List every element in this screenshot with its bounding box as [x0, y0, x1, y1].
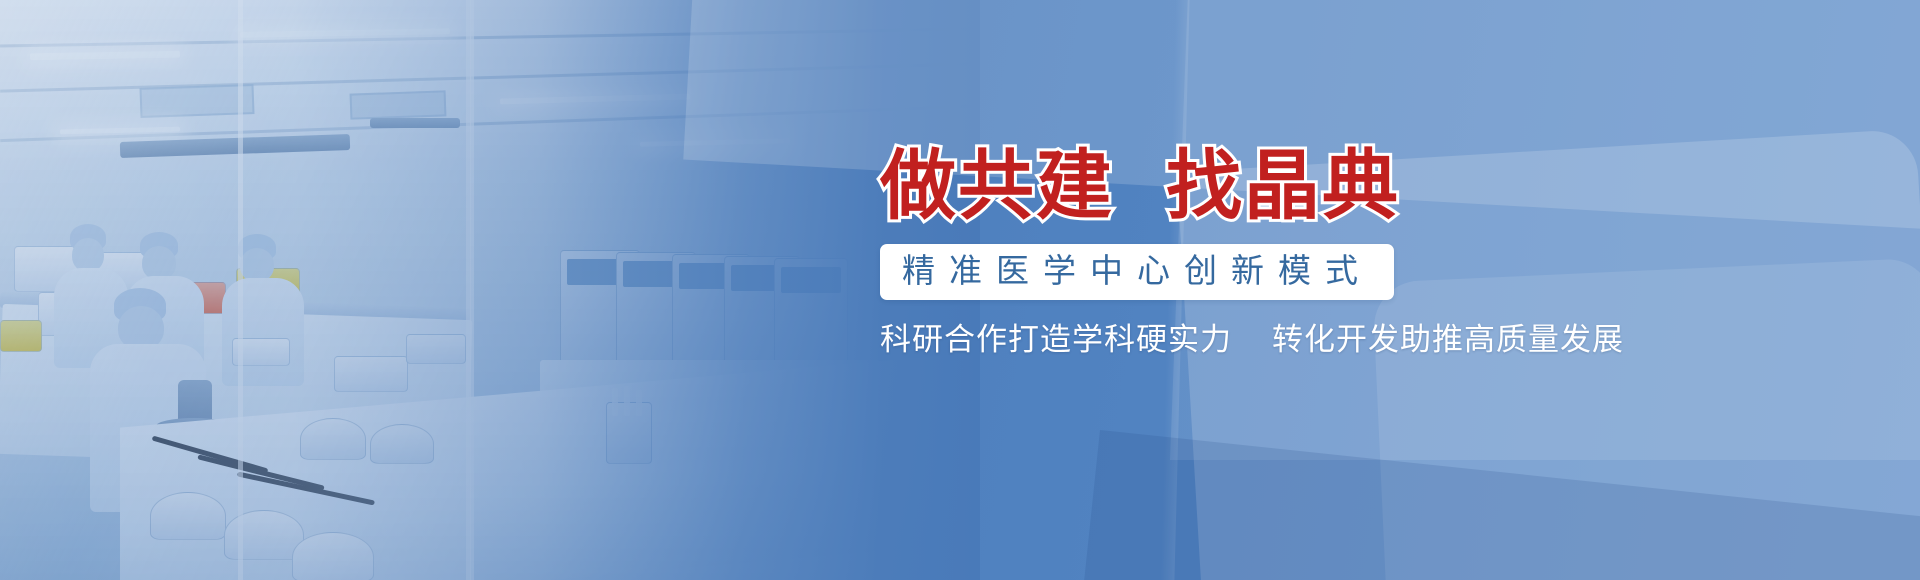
- promo-banner: 做共建找晶典 精准医学中心创新模式 科研合作打造学科硬实力转化开发助推高质量发展: [0, 0, 1920, 580]
- tagline-left: 科研合作打造学科硬实力: [880, 322, 1232, 358]
- banner-subtitle-text: 精准医学中心创新模式: [902, 253, 1372, 290]
- banner-subtitle-bar: 精准医学中心创新模式: [880, 244, 1394, 300]
- banner-headline: 做共建找晶典: [880, 148, 1710, 224]
- headline-part-2: 找晶典: [1166, 141, 1400, 230]
- headline-part-1: 做共建: [880, 141, 1114, 230]
- banner-text-block: 做共建找晶典 精准医学中心创新模式 科研合作打造学科硬实力转化开发助推高质量发展: [880, 148, 1710, 359]
- banner-tagline: 科研合作打造学科硬实力转化开发助推高质量发展: [880, 314, 1710, 359]
- tagline-right: 转化开发助推高质量发展: [1272, 322, 1624, 358]
